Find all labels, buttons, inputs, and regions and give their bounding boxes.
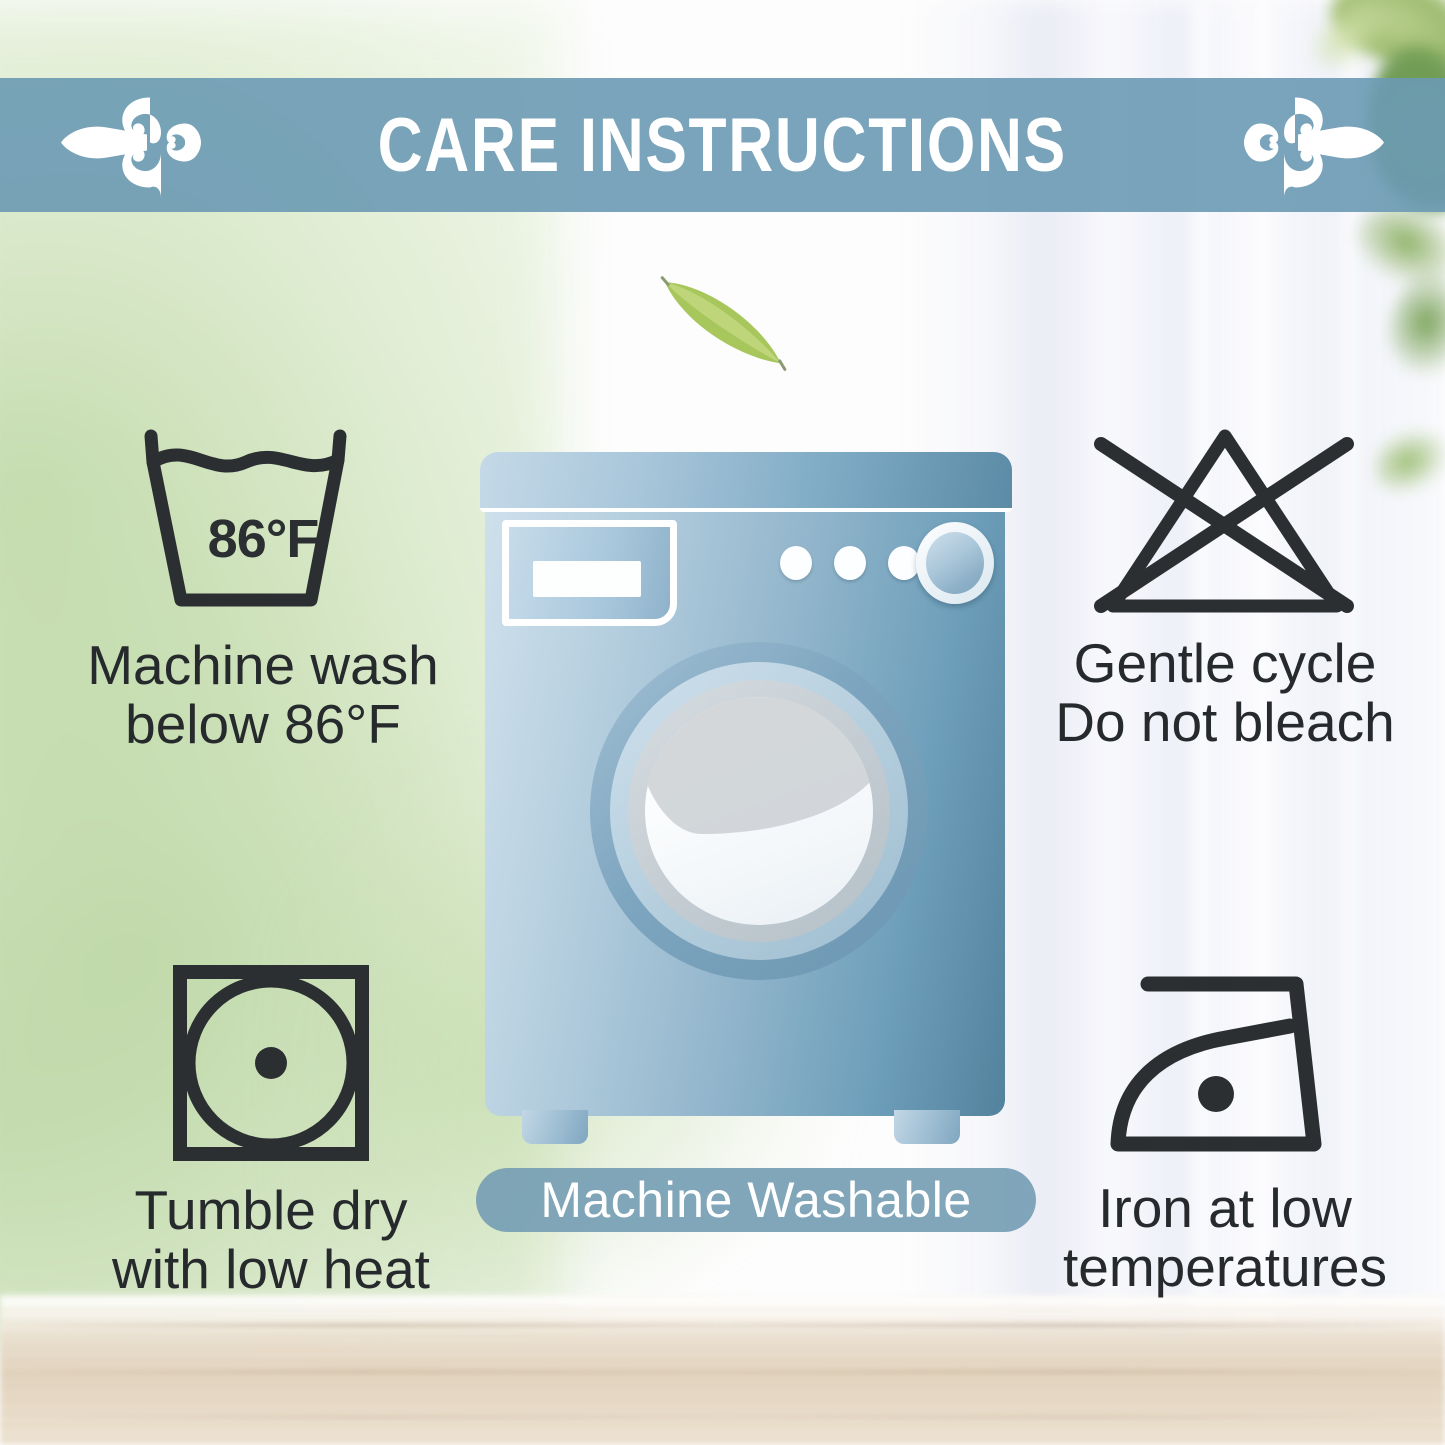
care-item-caption: Tumble dry with low heat [36,1181,506,1300]
washer-top-panel [480,452,1012,512]
care-item-caption: Machine wash below 86°F [28,636,498,755]
washing-machine-illustration [480,452,1012,1132]
care-item-caption: Iron at low temperatures [1010,1179,1440,1298]
wood-grain-line-2 [0,1370,1445,1373]
washer-door [590,642,928,980]
floating-leaf-icon [640,272,800,382]
fleur-de-lis-right-icon [1240,88,1390,203]
wood-grain-line-3 [0,1416,1445,1419]
machine-washable-badge: Machine Washable [476,1168,1036,1232]
washer-detergent-drawer [502,520,677,626]
fleur-de-lis-left-icon [55,88,205,203]
washer-control-knob [916,522,994,604]
washer-door-ring-inner [628,680,890,942]
page-title: CARE INSTRUCTIONS [378,102,1067,189]
care-item-iron-low: Iron at low temperatures [1010,960,1440,1298]
washer-foot-right [894,1110,960,1144]
washer-control-knob-inner [926,532,984,594]
wood-grain-line-1 [0,1324,1445,1327]
iron-low-temp-icon [1010,960,1440,1165]
wash-temperature-value: 86°F [28,508,498,570]
header-banner: CARE INSTRUCTIONS [0,78,1445,212]
washer-indicator-lights [780,546,920,580]
washer-indicator-light [834,546,866,580]
washer-detergent-slot [533,561,641,597]
care-item-tumble-dry: Tumble dry with low heat [36,962,506,1300]
washer-door-glass [645,697,873,925]
wash-tub-icon: 86°F [28,422,498,622]
tumble-dry-low-icon [36,962,506,1167]
washer-foot-left [522,1110,588,1144]
washer-door-glass-shade [645,697,873,834]
washer-indicator-light [780,546,812,580]
washer-door-ring-outer [610,662,908,960]
care-item-machine-wash: 86°F Machine wash below 86°F [28,422,498,755]
care-instructions-graphic: CARE INSTRUCTIONS [0,0,1445,1445]
care-item-caption: Gentle cycle Do not bleach [1005,634,1445,753]
machine-washable-badge-label: Machine Washable [540,1171,971,1229]
no-bleach-triangle-icon [1005,420,1445,620]
care-item-do-not-bleach: Gentle cycle Do not bleach [1005,420,1445,753]
